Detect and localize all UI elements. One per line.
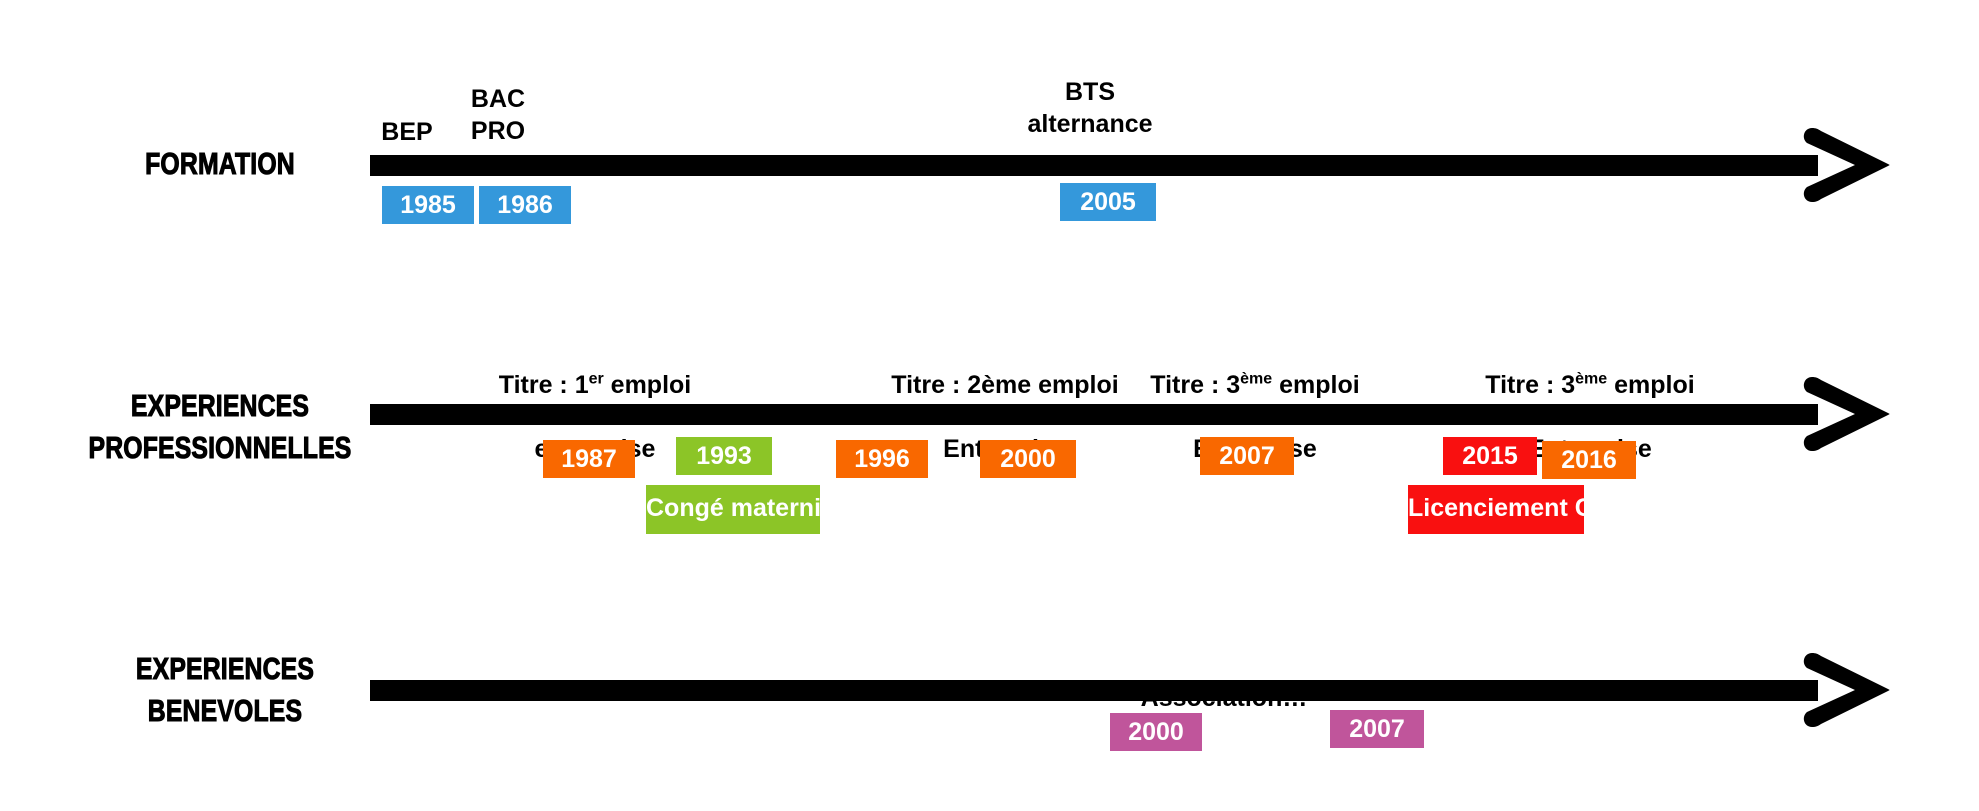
year-chip-1987[interactable]: 1987	[543, 440, 635, 478]
year-chip-2000[interactable]: 2000	[980, 440, 1076, 478]
caption-association: Association…	[1075, 650, 1375, 714]
row-label-experiences-professionnelles: EXPERIENCES PROFESSIONNELLES	[60, 385, 380, 469]
year-chip-1996[interactable]: 1996	[836, 440, 928, 478]
note-licenciement-chomage[interactable]: Licenciement Chômage	[1408, 485, 1584, 534]
row-label-formation: FORMATION	[92, 143, 348, 185]
timeline-canvas: FORMATION BEP BAC PRO BTS alternance 198…	[0, 0, 1979, 811]
year-chip-2015[interactable]: 2015	[1443, 437, 1537, 475]
year-chip-2005[interactable]: 2005	[1060, 183, 1156, 221]
arrow-head-icon	[1800, 650, 1890, 730]
year-chip-2007[interactable]: 2007	[1200, 437, 1294, 475]
caption-job-1-line1: Titre : 1er emploi	[499, 371, 691, 399]
caption-bac-pro: BAC PRO	[438, 83, 558, 147]
arrow-head-icon	[1800, 374, 1890, 454]
year-chip-1993[interactable]: 1993	[676, 437, 772, 475]
year-chip-1986[interactable]: 1986	[479, 186, 571, 224]
year-chip-2016[interactable]: 2016	[1542, 441, 1636, 479]
row-label-experiences-benevoles: EXPERIENCES BENEVOLES	[81, 648, 369, 732]
caption-job-2-line1: Titre : 2ème emploi	[891, 371, 1118, 399]
year-chip-benevole-2000[interactable]: 2000	[1110, 713, 1202, 751]
note-conge-maternite[interactable]: Congé maternité	[646, 485, 820, 534]
caption-association-ellipsis: …	[1282, 684, 1309, 712]
year-chip-1985[interactable]: 1985	[382, 186, 474, 224]
caption-association-text: Association	[1141, 684, 1283, 712]
year-chip-benevole-2007[interactable]: 2007	[1330, 710, 1424, 748]
arrow-head-icon	[1800, 125, 1890, 205]
caption-bts-alternance: BTS alternance	[960, 76, 1220, 140]
arrow-shaft	[370, 155, 1818, 176]
caption-job-3-line1: Titre : 3ème emploi	[1150, 371, 1359, 399]
caption-job-4-line1: Titre : 3ème emploi	[1485, 371, 1694, 399]
